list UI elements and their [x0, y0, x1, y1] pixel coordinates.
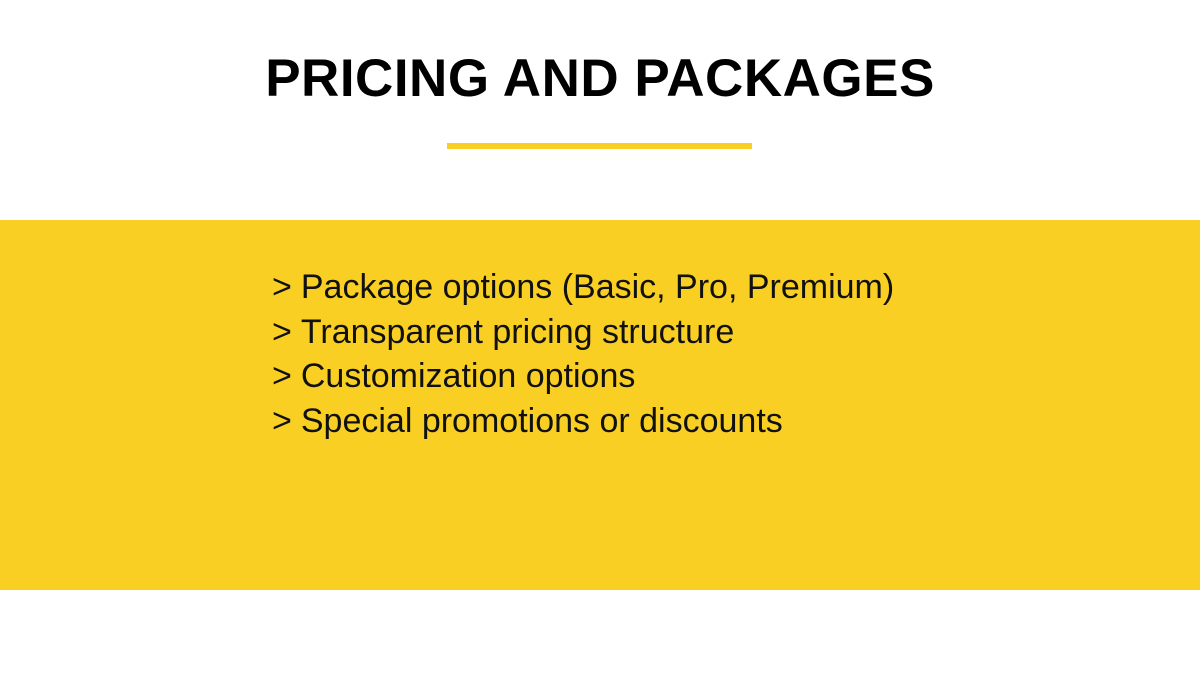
list-item: >Package options (Basic, Pro, Premium) [272, 265, 894, 310]
bullet-marker-icon: > [272, 354, 292, 399]
list-item: >Special promotions or discounts [272, 399, 894, 444]
list-item: >Transparent pricing structure [272, 310, 894, 355]
list-item-label: Package options (Basic, Pro, Premium) [301, 268, 894, 306]
bullet-marker-icon: > [272, 265, 292, 310]
title-underline-accent [447, 143, 752, 149]
bullet-marker-icon: > [272, 399, 292, 444]
title-block: PRICING AND PACKAGES [0, 0, 1200, 175]
list-item-label: Customization options [301, 357, 636, 395]
bullet-marker-icon: > [272, 310, 292, 355]
list-item-label: Special promotions or discounts [301, 402, 783, 440]
presentation-slide: PRICING AND PACKAGES >Package options (B… [0, 0, 1200, 675]
list-item: >Customization options [272, 354, 894, 399]
list-item-label: Transparent pricing structure [301, 313, 734, 351]
bullet-list: >Package options (Basic, Pro, Premium) >… [272, 265, 894, 443]
page-title: PRICING AND PACKAGES [0, 48, 1200, 110]
content-band: >Package options (Basic, Pro, Premium) >… [0, 220, 1200, 590]
